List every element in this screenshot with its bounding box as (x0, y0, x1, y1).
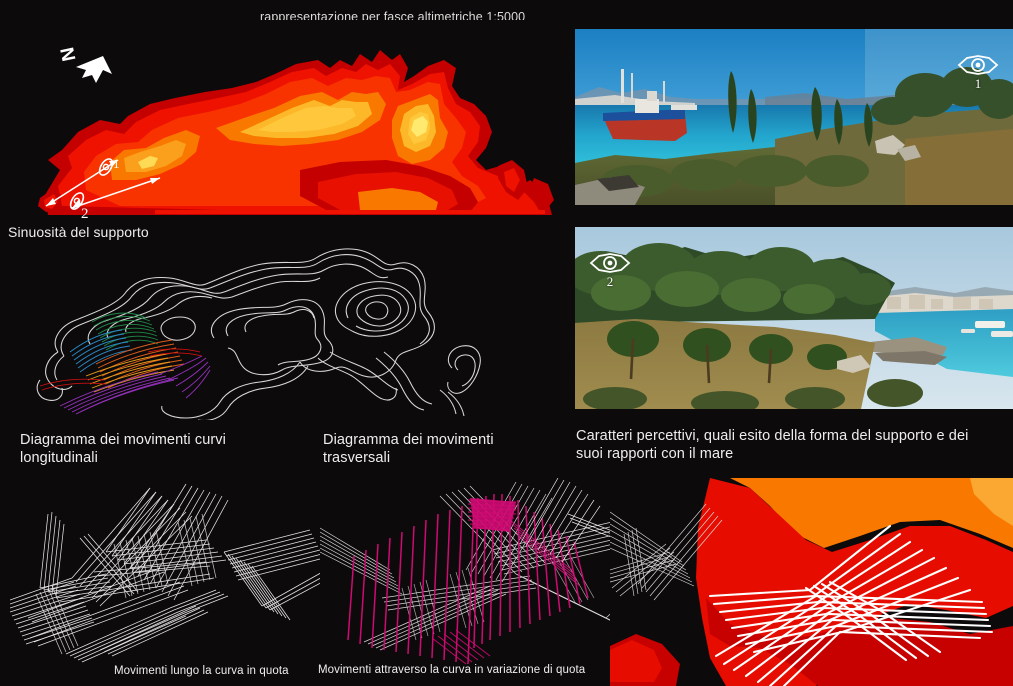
coastal-panorama-with-ship: 1 (575, 29, 1013, 205)
heatmap-detail-zoom[interactable] (610, 478, 1013, 686)
diagram-transverse-movements[interactable] (320, 478, 640, 668)
caption-movimenti-lungo: Movimenti lungo la curva in quota (114, 663, 289, 680)
caption-sinuosita: Sinuosità del supporto (8, 224, 149, 241)
caption-movimenti-attraverso: Movimenti attraverso la curva in variazi… (318, 662, 585, 679)
altimetric-band-map[interactable]: 1 2 N (0, 20, 560, 225)
poster-board: rappresentazione per fasce altimetriche … (0, 0, 1013, 686)
contour-line-map[interactable] (0, 240, 545, 420)
caption-diagramma-trasversali: Diagramma dei movimenti trasversali (323, 431, 494, 467)
svg-text:1: 1 (113, 156, 120, 171)
pine-forest-bay-panorama: 2 (575, 227, 1013, 409)
svg-text:2: 2 (81, 206, 89, 222)
caption-caratteri-percettivi: Caratteri percettivi, quali esito della … (576, 427, 968, 463)
caption-diagramma-longitudinali: Diagramma dei movimenti curvi longitudin… (20, 431, 226, 467)
photo-viewpoint-2[interactable]: 2 (575, 227, 1013, 409)
photo-viewpoint-1[interactable]: 1 (575, 29, 1013, 205)
diagram-longitudinal-movements[interactable] (10, 478, 330, 663)
